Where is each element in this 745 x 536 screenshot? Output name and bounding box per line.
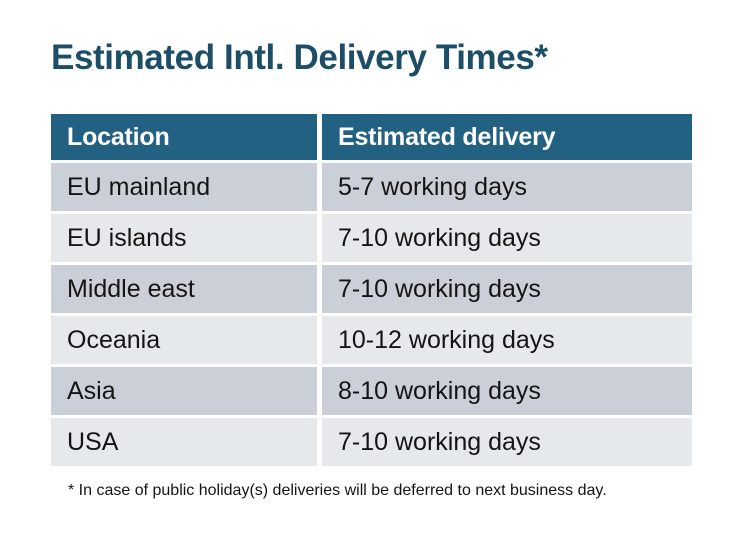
column-header-estimated-delivery: Estimated delivery: [322, 114, 692, 160]
page-title: Estimated Intl. Delivery Times*: [51, 36, 548, 80]
table-row: EU mainland 5-7 working days: [51, 163, 692, 211]
delivery-times-table: Location Estimated delivery EU mainland …: [51, 114, 692, 466]
cell-estimated-delivery: 8-10 working days: [322, 367, 692, 415]
table-row: Oceania 10-12 working days: [51, 316, 692, 364]
table-row: USA 7-10 working days: [51, 418, 692, 466]
table-header-row: Location Estimated delivery: [51, 114, 692, 160]
column-header-location: Location: [51, 114, 317, 160]
cell-location: Middle east: [51, 265, 317, 313]
cell-estimated-delivery: 10-12 working days: [322, 316, 692, 364]
cell-location: Asia: [51, 367, 317, 415]
cell-location: Oceania: [51, 316, 317, 364]
cell-location: EU mainland: [51, 163, 317, 211]
cell-location: EU islands: [51, 214, 317, 262]
table-row: Asia 8-10 working days: [51, 367, 692, 415]
cell-estimated-delivery: 7-10 working days: [322, 265, 692, 313]
footnote: * In case of public holiday(s) deliverie…: [68, 480, 607, 502]
table-row: Middle east 7-10 working days: [51, 265, 692, 313]
table-row: EU islands 7-10 working days: [51, 214, 692, 262]
cell-location: USA: [51, 418, 317, 466]
cell-estimated-delivery: 7-10 working days: [322, 214, 692, 262]
cell-estimated-delivery: 7-10 working days: [322, 418, 692, 466]
cell-estimated-delivery: 5-7 working days: [322, 163, 692, 211]
delivery-times-page: Estimated Intl. Delivery Times* Location…: [0, 0, 745, 536]
